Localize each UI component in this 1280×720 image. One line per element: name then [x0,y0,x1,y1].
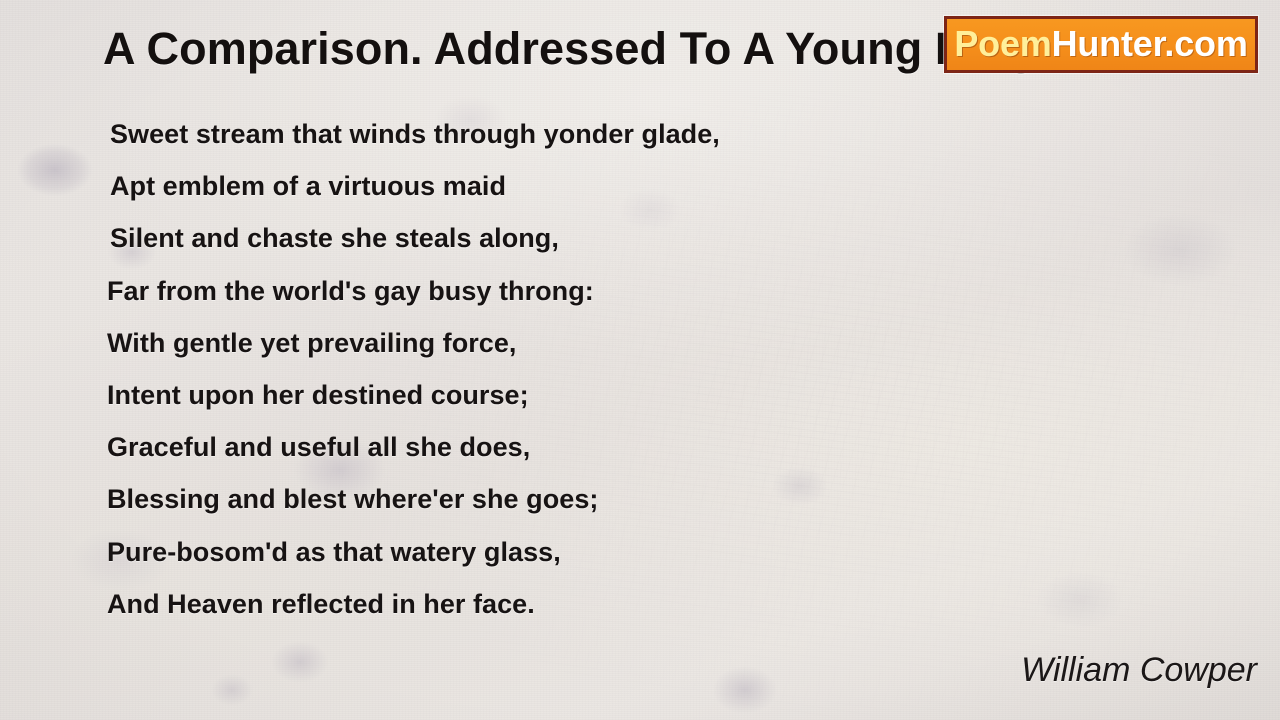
poem-line: Blessing and blest where'er she goes; [107,473,907,525]
poemhunter-brand-part-one: Poem [954,23,1051,64]
poem-line: And Heaven reflected in her face. [107,578,907,630]
poem-line: Sweet stream that winds through yonder g… [107,108,907,160]
poem-line: Apt emblem of a virtuous maid [107,160,907,212]
poem-content: A Comparison. Addressed To A Young Lady … [0,0,1280,720]
poem-title: A Comparison. Addressed To A Young Lady [103,23,1040,75]
poemhunter-watermark-badge[interactable]: PoemHunter.com [944,16,1258,73]
poemhunter-watermark-text: PoemHunter.com [954,26,1247,62]
poem-slide: A Comparison. Addressed To A Young Lady … [0,0,1280,720]
poem-line: Intent upon her destined course; [107,369,907,421]
poem-body: Sweet stream that winds through yonder g… [107,108,907,630]
poem-line: Graceful and useful all she does, [107,421,907,473]
poem-line: Pure-bosom'd as that watery glass, [107,526,907,578]
poem-line: Far from the world's gay busy throng: [107,265,907,317]
poem-line: Silent and chaste she steals along, [107,212,907,264]
poem-author: William Cowper [1021,651,1257,690]
poem-line: With gentle yet prevailing force, [107,317,907,369]
poemhunter-brand-part-two: Hunter.com [1052,23,1248,64]
